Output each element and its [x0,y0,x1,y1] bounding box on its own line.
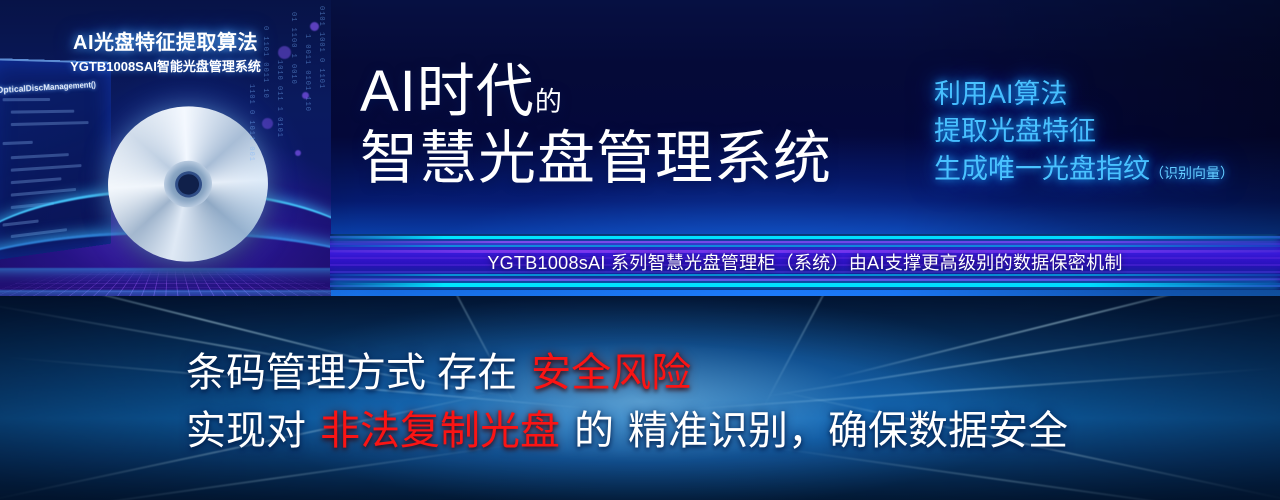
bottom-vignette [0,296,1280,500]
headline-line-2: 智慧光盘管理系统 [360,127,832,191]
feature-item-0-text: 利用AI算法 [934,79,1068,109]
feature-item-1: 提取光盘特征 [934,113,1234,150]
feature-item-2-note: （识别向量） [1150,165,1234,181]
headline-line-1-main: AI时代 [360,59,535,124]
feature-item-2-text: 生成唯一光盘指纹 [934,154,1150,184]
left-product-panel: OpticalDiscManagement() 0101 1001 0 1101 [0,0,331,296]
feature-item-0: 利用AI算法 [934,76,1234,113]
headline-line-1-small: 的 [535,87,563,117]
left-panel-title: AI光盘特征提取算法 [0,26,331,55]
headline-line-1: AI时代的 [360,62,832,121]
feature-item-2: 生成唯一光盘指纹（识别向量） [934,151,1234,188]
left-panel-subtitle: YGTB1008SAI智能光盘管理系统 [0,56,331,75]
feature-list: 利用AI算法 提取光盘特征 生成唯一光盘指纹（识别向量） [934,76,1234,188]
feature-item-1-text: 提取光盘特征 [934,116,1096,146]
subtitle-strip-text: YGTB1008sAI 系列智慧光盘管理柜（系统）由AI支撑更高级别的数据保密机… [330,234,1280,290]
subtitle-strip: YGTB1008sAI 系列智慧光盘管理柜（系统）由AI支撑更高级别的数据保密机… [330,234,1280,290]
headline-block: AI时代的 智慧光盘管理系统 [360,62,832,191]
bottom-section [0,296,1280,500]
promo-banner: OpticalDiscManagement() 0101 1001 0 1101 [0,0,1280,500]
code-function-label: OpticalDiscManagement() [0,79,96,95]
rain-col-5: 1101 0 1011 001 [247,84,255,162]
